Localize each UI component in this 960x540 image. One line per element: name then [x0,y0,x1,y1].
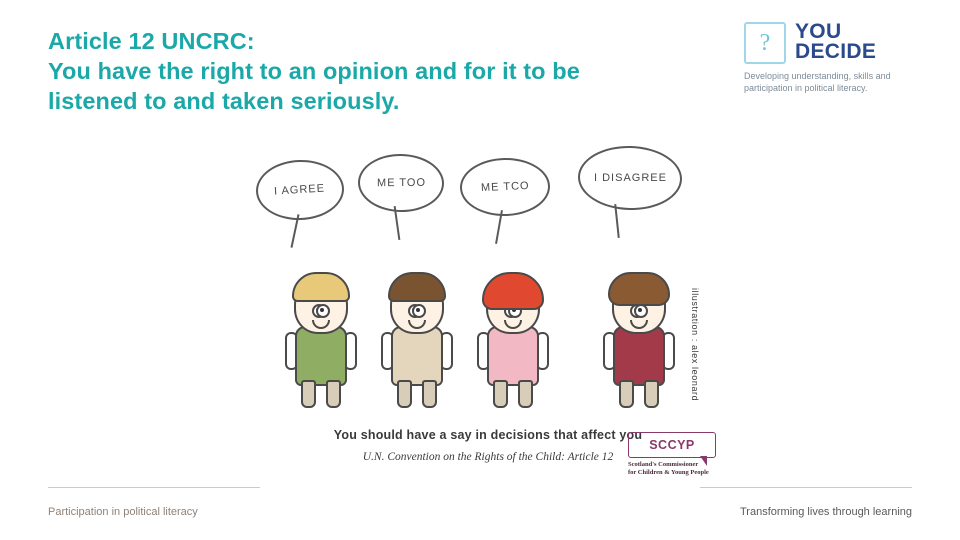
question-mark-glyph: ? [746,31,784,55]
title-line-2: You have the right to an opinion and for… [48,56,738,86]
character-group [248,270,728,420]
character-1-leg-left [301,380,316,408]
logo-wordmark: YOU DECIDE [795,22,876,62]
character-4-leg-right [644,380,659,408]
character-2-eye-right [412,304,426,318]
character-2-hair [388,272,446,302]
footer-right-text: Transforming lives through learning [740,506,912,518]
character-2-body [391,326,443,386]
title-line-1: Article 12 UNCRC: [48,26,738,56]
character-4-mouth [630,320,648,329]
slide-canvas: Article 12 UNCRC: You have the right to … [0,0,960,540]
footer-left-text: Participation in political literacy [48,506,198,518]
speech-bubble-group: I AGREE ME TOO ME TCO I DISAGREE [248,140,728,260]
character-4 [600,270,678,420]
character-2-leg-right [422,380,437,408]
speech-bubble-4: I DISAGREE [577,145,683,212]
logo-tagline: Developing understanding, skills and par… [744,70,934,94]
question-mark-icon: ? [744,22,786,64]
character-4-legs [617,380,661,408]
character-1-eye-right [316,304,330,318]
speech-bubble-1: I AGREE [255,158,345,221]
sccyp-badge: SCCYP [628,432,716,458]
title-line-3: listened to and taken seriously. [48,86,738,116]
speech-bubble-1-text: I AGREE [274,182,326,197]
speech-bubble-3-text: ME TCO [480,180,529,194]
character-1-legs [299,380,343,408]
logo-word-you: YOU [795,22,876,42]
character-4-hair [608,272,670,306]
sccyp-subtitle-line-2: for Children & Young People [628,469,720,477]
character-2-legs [395,380,439,408]
speech-bubble-4-text: I DISAGREE [594,172,667,184]
character-3-leg-left [493,380,508,408]
character-3-mouth [504,320,522,329]
speech-bubble-2: ME TOO [358,153,445,212]
page-title: Article 12 UNCRC: You have the right to … [48,26,738,116]
logo-top-row: ? YOU DECIDE [744,22,944,64]
character-4-eye-right [634,304,648,318]
illustration-credit: illustration : alex leonard [690,288,700,401]
character-1-mouth [312,320,330,329]
character-2-leg-left [397,380,412,408]
speech-bubble-3: ME TCO [460,157,551,217]
character-2 [378,270,456,420]
character-4-body [613,326,665,386]
character-4-leg-left [619,380,634,408]
sccyp-logo: SCCYP Scotland's Commissioner for Childr… [628,432,720,478]
character-1-body [295,326,347,386]
you-decide-logo: ? YOU DECIDE Developing understanding, s… [744,22,944,94]
character-3-body [487,326,539,386]
cartoon-illustration: I AGREE ME TOO ME TCO I DISAGREE [248,140,728,480]
character-1 [282,270,360,420]
character-3-leg-right [518,380,533,408]
character-1-leg-right [326,380,341,408]
speech-bubble-2-text: ME TOO [376,177,425,189]
footer-divider-left [48,487,260,488]
character-2-mouth [408,320,426,329]
footer-divider-right [700,487,912,488]
character-3-legs [491,380,535,408]
logo-word-decide: DECIDE [795,42,876,62]
sccyp-badge-text: SCCYP [649,438,695,452]
character-1-hair [292,272,350,302]
character-3-hair [482,272,544,310]
character-3 [474,270,552,420]
